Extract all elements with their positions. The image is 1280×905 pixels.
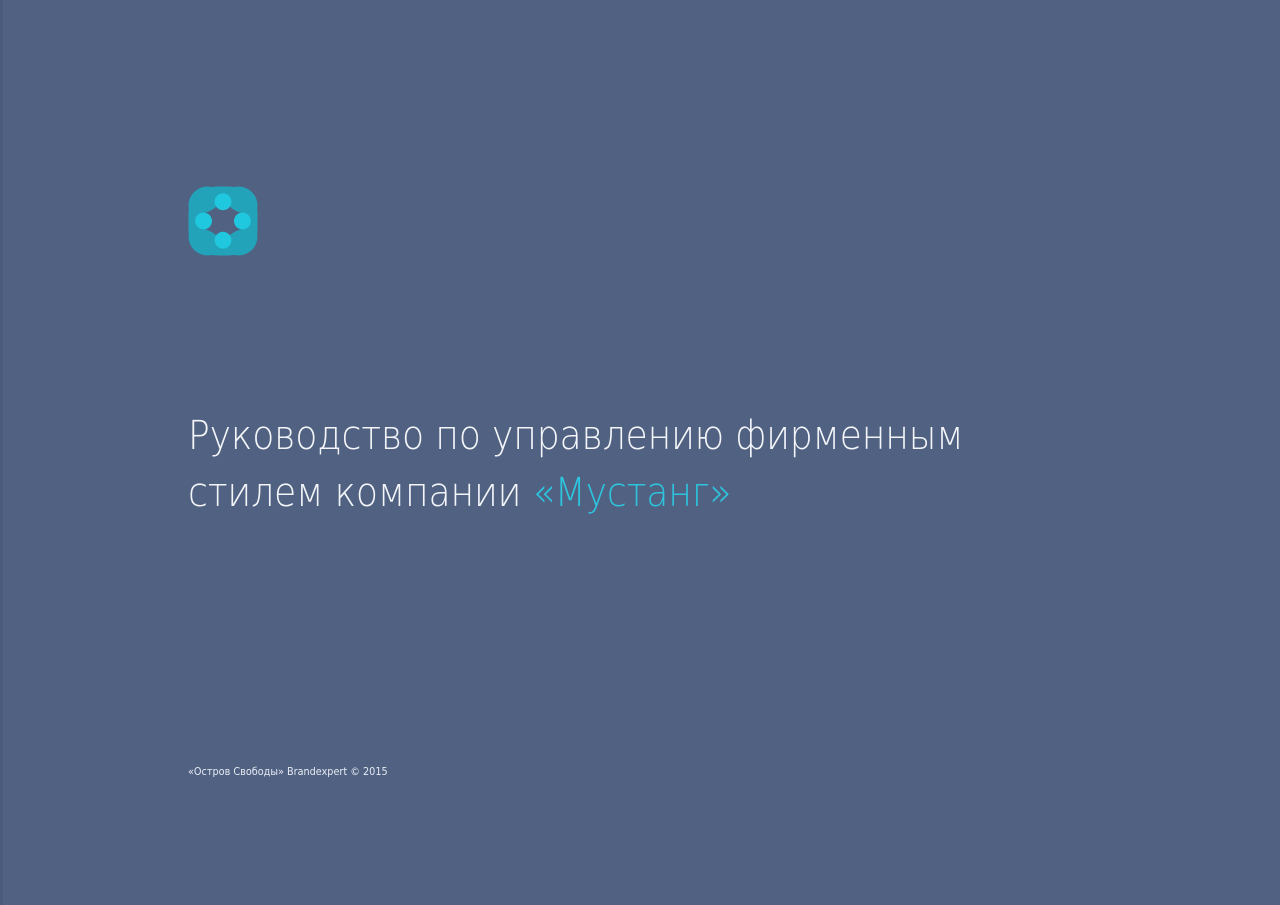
logo-svg: [187, 185, 259, 257]
footer-credit: «Остров Свободы» Brandexpert © 2015: [188, 764, 388, 780]
page-title-line-1: Руководство по управлению фирменным: [188, 408, 1003, 465]
left-edge-strip: [0, 0, 3, 905]
logo-node-south: [215, 232, 232, 249]
page-title-company-name: «Мустанг»: [533, 470, 732, 516]
logo-node-north: [215, 193, 232, 210]
logo-node-west: [195, 213, 212, 230]
page-title-line-2-prefix: стилем компании: [188, 470, 533, 516]
logo-node-east: [234, 213, 251, 230]
title-block: Руководство по управлению фирменным стил…: [188, 408, 1088, 522]
page-title-line-2: стилем компании «Мустанг»: [188, 465, 1003, 522]
title-slide: Руководство по управлению фирменным стил…: [0, 0, 1280, 905]
mustang-quatrefoil-logo: [187, 185, 259, 257]
